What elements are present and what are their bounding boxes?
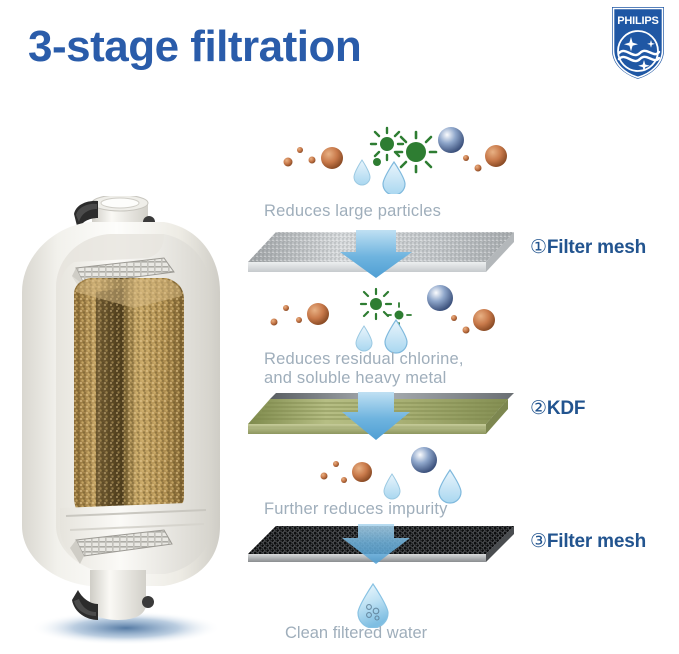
water-droplet [356, 326, 372, 351]
stage-2-label-text: KDF [547, 398, 585, 419]
stage-1: Reduces large particles [244, 122, 679, 280]
clean-water-droplet-icon [355, 583, 391, 628]
carbon-mesh-slab [246, 524, 514, 572]
page-title: 3-stage filtration [28, 22, 361, 72]
blue-sphere [438, 127, 464, 153]
stage-2-label: ②KDF [530, 397, 585, 420]
water-droplet [354, 160, 370, 185]
contaminant-cluster-1 [244, 122, 524, 194]
contaminant-cluster-2 [244, 282, 524, 354]
brand-wordmark: PHILIPS [617, 15, 658, 27]
water-droplet [439, 470, 461, 503]
water-droplet [384, 474, 400, 499]
filter-mesh-slab [246, 230, 514, 278]
stage-3-label: ③Filter mesh [530, 530, 646, 553]
germ-icon [371, 128, 436, 172]
stage-1-label: ①Filter mesh [530, 236, 646, 259]
stage-3: Further reduces impurity [244, 442, 679, 582]
water-filter-cartridge-cutaway [14, 196, 240, 648]
stage-2-number: ② [530, 398, 547, 419]
output-caption: Clean filtered water [285, 624, 427, 643]
stage-3-number: ③ [530, 531, 547, 552]
stage-1-number: ① [530, 237, 547, 258]
stage-3-label-text: Filter mesh [547, 531, 646, 552]
filter-media [74, 278, 184, 518]
germ-icon [361, 289, 411, 327]
stage-3-caption: Further reduces impurity [264, 500, 448, 519]
blue-sphere [427, 285, 453, 311]
stage-2-caption: Reduces residual chlorine, and soluble h… [264, 350, 464, 388]
kdf-slab [246, 392, 514, 440]
stage-2: Reduces residual chlorine, and soluble h… [244, 282, 679, 440]
blue-sphere [411, 447, 437, 473]
philips-shield-logo: PHILIPS [609, 4, 667, 82]
water-droplet [385, 320, 407, 353]
filtration-infographic: 3-stage filtration PHILIPS [0, 0, 679, 654]
stage-1-label-text: Filter mesh [547, 237, 646, 258]
stage-1-caption: Reduces large particles [264, 202, 441, 221]
